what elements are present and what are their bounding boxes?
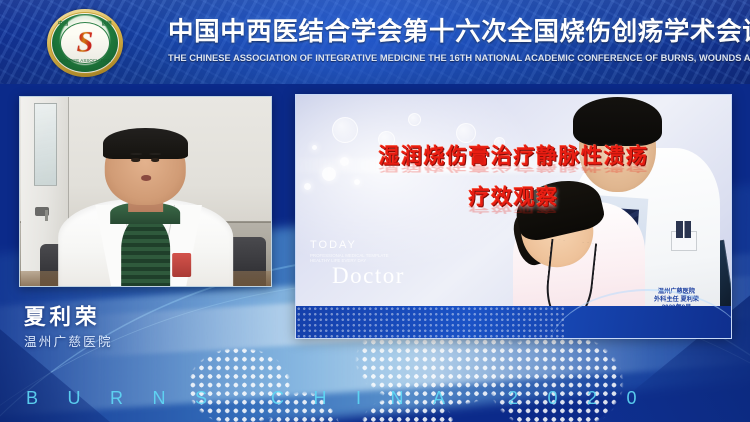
slide-bubble-icon xyxy=(408,113,421,126)
speaker-mouth xyxy=(141,175,152,180)
speaker-name: 夏利荣 xyxy=(24,304,244,330)
event-wordmark: BURNS CHINA 2020 xyxy=(26,386,732,410)
broadcast-stage: 中国 医结 S CHINESE ASSOCIATION OF INTEGRATI… xyxy=(0,0,750,422)
speaker-video-panel[interactable] xyxy=(19,96,272,287)
slide-bubble-icon xyxy=(332,117,358,143)
slide-watermark-today: TODAY xyxy=(310,239,357,251)
speaker-eyebrow-right xyxy=(149,153,161,155)
slide-footer-dot-pattern xyxy=(296,306,566,338)
speaker-id-badge xyxy=(172,253,191,276)
speaker-eyebrow-left xyxy=(130,153,142,155)
slide-title-line-2-reflection: 疗效观察 xyxy=(296,203,731,211)
door-key-icon xyxy=(45,210,48,221)
speaker-hair xyxy=(103,128,187,159)
slide-title-block: 湿润烧伤膏治疗静脉性溃疡 湿润烧伤膏治疗静脉性溃疡 疗效观察 疗效观察 xyxy=(296,143,731,225)
door-glass-panel xyxy=(34,103,57,186)
male-doctor-hair xyxy=(573,97,662,146)
speaker-nameplate: 夏利荣 温州广慈医院 xyxy=(24,304,244,350)
slide-watermark-doctor: Doctor xyxy=(332,263,405,289)
conference-header-banner: 中国 医结 S CHINESE ASSOCIATION OF INTEGRATI… xyxy=(0,0,750,84)
speaker-eye-right xyxy=(151,158,160,162)
slide-title-line-1-reflection: 湿润烧伤膏治疗静脉性溃疡 xyxy=(296,162,731,170)
speaker-striped-shirt xyxy=(121,215,170,286)
presentation-slide-panel[interactable]: TODAY PROFESSIONAL MEDICAL TEMPLATE HEAL… xyxy=(295,94,732,339)
speaker-figure xyxy=(58,131,234,286)
header-sheen-overlay xyxy=(0,0,750,84)
speaker-eye-left xyxy=(131,158,140,162)
slide-watermark-today-sub: PROFESSIONAL MEDICAL TEMPLATE HEALTHY LI… xyxy=(310,253,406,263)
speaker-organization: 温州广慈医院 xyxy=(24,334,244,350)
